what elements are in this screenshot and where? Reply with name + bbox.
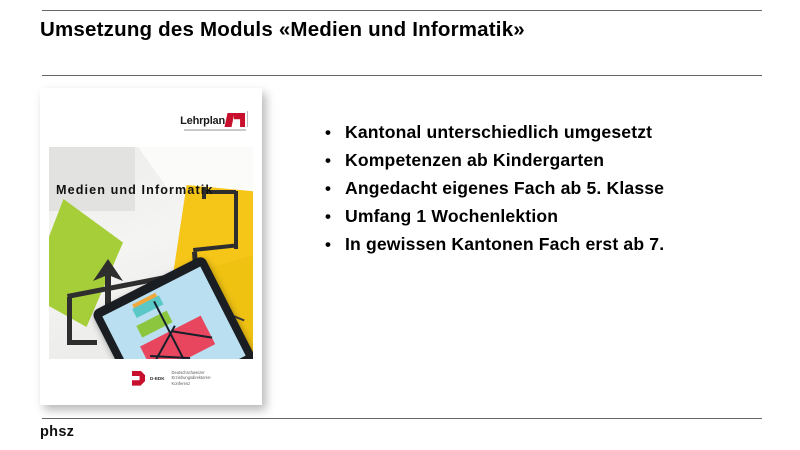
dedk-logo: D-EDK Deutschschweizer Erziehungsdirekto…	[132, 370, 212, 386]
cover-footer-band: D-EDK Deutschschweizer Erziehungsdirekto…	[40, 359, 262, 405]
bullet-marker-icon: •	[325, 208, 345, 225]
bullet-list: • Kantonal unterschiedlich umgesetzt • K…	[325, 122, 664, 262]
cover-header-band: Lehrplan	[40, 88, 262, 147]
dedk-mark-icon	[132, 371, 145, 386]
lehrplan21-wordmark: Lehrplan	[180, 116, 225, 127]
photo-line-segment	[234, 191, 238, 249]
list-item-label: Kantonal unterschiedlich umgesetzt	[345, 122, 652, 143]
dedk-name-line-3: Konferenz	[172, 381, 191, 386]
bullet-marker-icon: •	[325, 180, 345, 197]
dedk-name-line-1: Deutschschweizer	[172, 370, 205, 375]
list-item-label: Kompetenzen ab Kindergarten	[345, 150, 604, 171]
list-item: • Kompetenzen ab Kindergarten	[325, 150, 664, 178]
list-item-label: Angedacht eigenes Fach ab 5. Klasse	[345, 178, 664, 199]
footer-brand-label: phsz	[40, 424, 74, 440]
photo-line-segment	[67, 340, 97, 345]
bullet-marker-icon: •	[325, 152, 345, 169]
photo-gray-panel	[49, 147, 135, 211]
list-item: • Kantonal unterschiedlich umgesetzt	[325, 122, 664, 150]
lehrplan21-logo-underline	[184, 129, 246, 131]
list-item: • Umfang 1 Wochenlektion	[325, 206, 664, 234]
list-item-label: Umfang 1 Wochenlektion	[345, 206, 558, 227]
cover-photograph	[49, 147, 253, 359]
page-title: Umsetzung des Moduls «Medien und Informa…	[40, 18, 525, 42]
header-divider-bottom	[42, 75, 762, 76]
lehrplan21-logo: Lehrplan	[180, 112, 246, 127]
photo-line-segment	[67, 297, 72, 345]
header-divider-top	[42, 10, 762, 11]
list-item-label: In gewissen Kantonen Fach erst ab 7.	[345, 234, 664, 255]
list-item: • Angedacht eigenes Fach ab 5. Klasse	[325, 178, 664, 206]
bullet-marker-icon: •	[325, 236, 345, 253]
dedk-abbreviation: D-EDK	[150, 376, 165, 381]
footer-divider	[42, 418, 762, 419]
list-item: • In gewissen Kantonen Fach erst ab 7.	[325, 234, 664, 262]
lehrplan21-numeral-mark	[226, 113, 246, 127]
bullet-marker-icon: •	[325, 124, 345, 141]
lehrplan21-logo-bar	[247, 111, 248, 127]
dedk-publisher-name: Deutschschweizer Erziehungsdirektoren- K…	[172, 370, 212, 386]
book-cover-image: Lehrplan	[40, 88, 262, 405]
cover-title: Medien und Informatik	[56, 183, 213, 197]
dedk-name-line-2: Erziehungsdirektoren-	[172, 375, 212, 380]
